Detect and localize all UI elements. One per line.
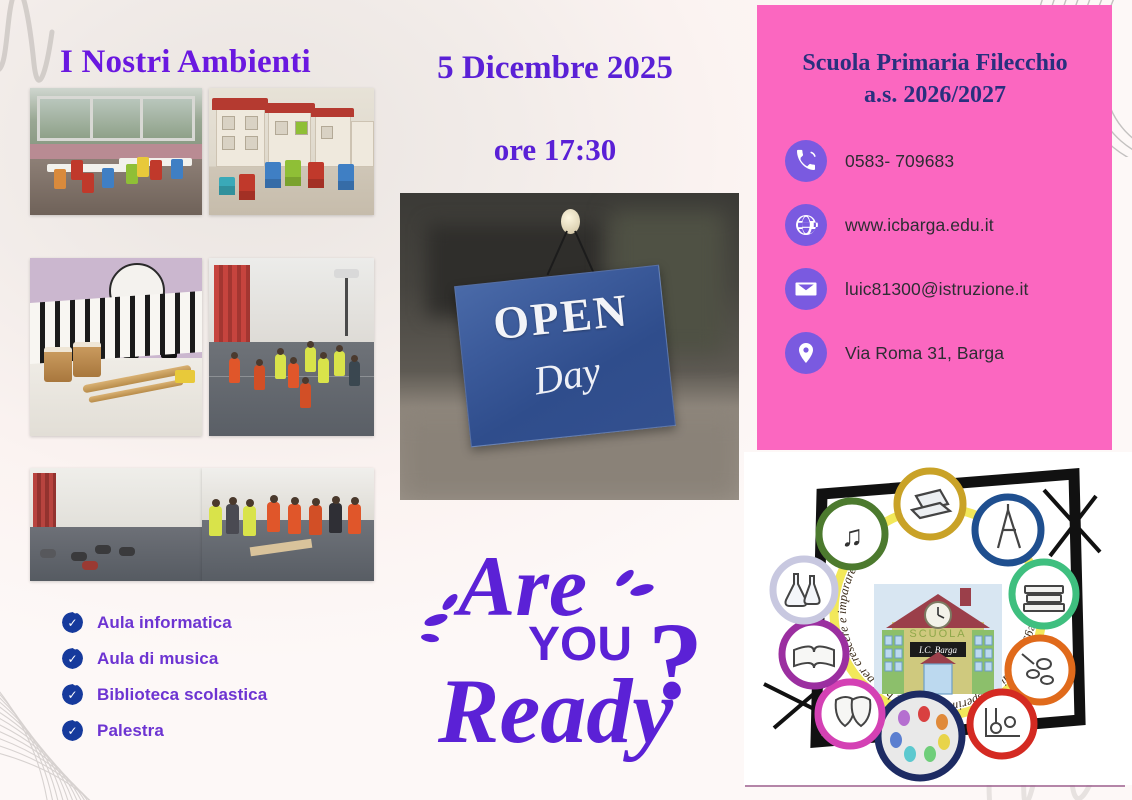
check-badge-icon: ✓	[62, 684, 83, 705]
photo-gym-group	[202, 468, 374, 581]
contact-website-value: www.icbarga.edu.it	[845, 215, 994, 236]
mail-icon	[785, 268, 827, 310]
list-item: ✓ Biblioteca scolastica	[62, 684, 267, 705]
logo-building-label: SCUOLA	[909, 628, 966, 640]
ready-question-mark: ?	[648, 600, 703, 722]
photo-gym-basketball	[209, 258, 374, 436]
globe-icon	[785, 204, 827, 246]
contact-address-value: Via Roma 31, Barga	[845, 343, 1004, 364]
list-item-label: Biblioteca scolastica	[97, 685, 267, 705]
school-name-line2: a.s. 2026/2027	[770, 80, 1100, 112]
photo-music-room	[30, 258, 202, 436]
check-badge-icon: ✓	[62, 612, 83, 633]
sign-hook	[561, 209, 580, 234]
school-logo-graphic: Leggere, studiare, sperimentare... le ba…	[744, 452, 1132, 785]
contact-phone-value: 0583- 709683	[845, 151, 954, 172]
list-item-label: Aula di musica	[97, 649, 218, 669]
event-time: ore 17:30	[395, 132, 715, 168]
contact-phone[interactable]: 0583- 709683	[785, 140, 1029, 182]
ready-word-ready: Ready	[437, 660, 674, 762]
photo-classroom-tables	[30, 88, 202, 215]
contact-address[interactable]: Via Roma 31, Barga	[785, 332, 1029, 374]
bottom-divider-rule	[745, 785, 1125, 787]
section-title: I Nostri Ambienti	[60, 44, 390, 81]
school-name-line1: Scuola Primaria Filecchio	[770, 48, 1100, 80]
photo-gym-floor	[30, 468, 202, 581]
contact-email[interactable]: luic81300@istruzione.it	[785, 268, 1029, 310]
location-pin-icon	[785, 332, 827, 374]
check-badge-icon: ✓	[62, 648, 83, 669]
check-badge-icon: ✓	[62, 720, 83, 741]
music-circle-icon: ♫	[841, 520, 864, 553]
photo-classroom-mural	[209, 88, 374, 215]
school-name: Scuola Primaria Filecchio a.s. 2026/2027	[770, 48, 1100, 111]
contact-website[interactable]: www.icbarga.edu.it	[785, 204, 1029, 246]
contact-email-value: luic81300@istruzione.it	[845, 279, 1029, 300]
list-item: ✓ Aula di musica	[62, 648, 267, 669]
event-date: 5 Dicembre 2025	[395, 50, 715, 87]
list-item-label: Aula informatica	[97, 613, 232, 633]
list-item-label: Palestra	[97, 721, 164, 741]
contact-list: 0583- 709683 www.icbarga.edu.it luic8130…	[785, 140, 1029, 396]
poster-canvas: I Nostri Ambienti	[0, 0, 1132, 800]
list-item: ✓ Palestra	[62, 720, 267, 741]
features-list: ✓ Aula informatica ✓ Aula di musica ✓ Bi…	[62, 612, 267, 756]
phone-icon	[785, 140, 827, 182]
are-you-ready-lettering: Are YOU Ready ?	[420, 520, 720, 770]
open-day-sign: OPEN Day	[454, 265, 676, 448]
list-item: ✓ Aula informatica	[62, 612, 267, 633]
photo-open-day-sign: OPEN Day	[400, 193, 739, 500]
